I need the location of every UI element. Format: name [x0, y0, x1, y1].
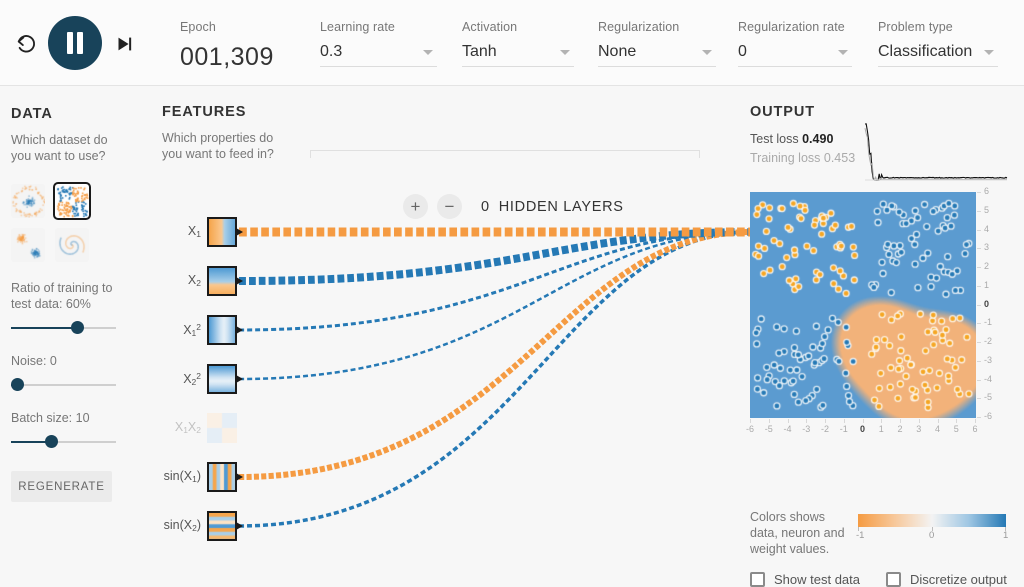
regularization-field: Regularization None	[598, 20, 716, 67]
x-tick-mark	[825, 419, 826, 423]
x-axis-tick-label: 5	[951, 424, 961, 434]
y-tick-mark	[977, 323, 981, 324]
chevron-down-icon	[984, 50, 994, 55]
activation-label: Activation	[462, 20, 574, 34]
y-tick-mark	[977, 230, 981, 231]
feature-label-sinx2: sin(X2)	[155, 518, 201, 533]
x-axis-tick-label: -4	[783, 424, 793, 434]
y-axis-tick-label: 3	[984, 242, 989, 252]
x-tick-mark	[938, 419, 939, 423]
dataset-thumb-xor[interactable]	[55, 184, 89, 218]
noise-slider-thumb[interactable]	[11, 378, 24, 391]
activation-select[interactable]: Tanh	[462, 43, 574, 67]
x-axis-tick-label: -2	[820, 424, 830, 434]
chevron-down-icon	[702, 50, 712, 55]
regularization-rate-value: 0	[738, 43, 747, 60]
noise-slider-rail	[11, 384, 116, 386]
checkbox-icon[interactable]	[886, 572, 901, 587]
features-panel: FEATURES Which properties do you want to…	[162, 104, 282, 162]
regularization-value: None	[598, 43, 636, 60]
dataset-selector	[11, 184, 91, 262]
dataset-thumb-gaussian[interactable]	[11, 228, 45, 262]
y-axis-tick-label: -2	[984, 336, 992, 346]
y-axis-tick-label: 6	[984, 186, 989, 196]
x-tick-mark	[975, 419, 976, 423]
x-tick-mark	[844, 419, 845, 423]
regularization-rate-select[interactable]: 0	[738, 43, 852, 67]
batch-slider-block: Batch size: 10	[11, 410, 131, 449]
weight-link-sinx1[interactable]	[239, 232, 750, 477]
x-tick-mark	[806, 419, 807, 423]
y-axis-tick-label: -1	[984, 317, 992, 327]
remove-layer-button[interactable]: −	[437, 194, 462, 219]
color-legend: Colors shows data, neuron and weight val…	[750, 509, 1014, 557]
play-pause-button[interactable]	[48, 16, 102, 70]
feature-node-sinx2[interactable]	[207, 511, 237, 541]
hidden-layers-count: 0	[481, 199, 490, 215]
noise-slider-label: Noise: 0	[11, 353, 131, 369]
main-content: DATA Which dataset do you want to use? R…	[0, 86, 1024, 575]
feature-label-sinx1: sin(X1)	[155, 469, 201, 484]
dataset-thumb-circle[interactable]	[11, 184, 45, 218]
y-axis-tick-label: -5	[984, 392, 992, 402]
weight-link-sinx2[interactable]	[239, 232, 750, 526]
x-axis-tick-label: 1	[876, 424, 886, 434]
x-axis-tick-label: -1	[839, 424, 849, 434]
test-loss-label: Test loss	[750, 132, 802, 146]
x-axis-tick-label: -6	[745, 424, 755, 434]
feature-node-x2[interactable]	[207, 266, 237, 296]
x-axis-tick-label: 4	[933, 424, 943, 434]
y-tick-mark	[977, 398, 981, 399]
y-axis-tick-label: 1	[984, 280, 989, 290]
output-heatmap[interactable]	[750, 192, 976, 418]
problem-type-label: Problem type	[878, 20, 998, 34]
regularization-select[interactable]: None	[598, 43, 716, 67]
legend-label-mid: 0	[929, 530, 934, 541]
link-arrow-x2sq	[236, 375, 243, 383]
x-tick-mark	[750, 419, 751, 423]
ratio-slider-thumb[interactable]	[71, 321, 84, 334]
feature-label-x1x2: X1X2	[155, 420, 201, 435]
color-legend-bar-wrap: -1 0 1	[858, 514, 1006, 527]
training-loss-curve	[865, 128, 1007, 180]
x-axis-tick-label: 3	[914, 424, 924, 434]
feature-label-x2sq: X22	[155, 371, 201, 387]
epoch-display: Epoch 001,309	[180, 20, 274, 72]
chevron-down-icon	[560, 50, 570, 55]
activation-field: Activation Tanh	[462, 20, 574, 67]
regularization-label: Regularization	[598, 20, 716, 34]
discretize-output-checkbox[interactable]: Discretize output	[886, 572, 1007, 587]
y-tick-mark	[977, 248, 981, 249]
output-panel: OUTPUT Test loss 0.490 Training loss 0.4…	[750, 104, 1014, 168]
x-tick-mark	[919, 419, 920, 423]
problem-type-select[interactable]: Classification	[878, 43, 998, 67]
learning-rate-field: Learning rate 0.3	[320, 20, 437, 67]
pause-icon-bar-left	[67, 32, 73, 54]
feature-node-x2sq[interactable]	[207, 364, 237, 394]
loss-curve-chart	[862, 121, 1010, 181]
y-axis-tick-label: 4	[984, 224, 989, 234]
legend-label-max: 1	[1003, 530, 1008, 541]
y-tick-mark	[977, 305, 981, 306]
x-axis-tick-label: 0	[858, 424, 868, 434]
ratio-slider-block: Ratio of training to test data: 60%	[11, 280, 131, 335]
data-panel-title: DATA	[11, 106, 131, 122]
color-legend-text: Colors shows data, neuron and weight val…	[750, 509, 848, 557]
dataset-thumb-spiral[interactable]	[55, 228, 89, 262]
x-tick-mark	[788, 419, 789, 423]
x-axis-tick-label: 2	[895, 424, 905, 434]
y-tick-mark	[977, 211, 981, 212]
x-tick-mark	[881, 419, 882, 423]
output-heatmap-wrap: -6-5-4-3-2-101234566543210-1-2-3-4-5-6	[750, 192, 976, 418]
legend-label-min: -1	[856, 530, 864, 541]
feature-label-x1sq: X12	[155, 322, 201, 338]
y-tick-mark	[977, 342, 981, 343]
regenerate-button[interactable]: REGENERATE	[11, 471, 112, 502]
x-tick-mark	[956, 419, 957, 423]
batch-slider[interactable]	[11, 435, 116, 449]
y-tick-mark	[977, 380, 981, 381]
show-test-data-label: Show test data	[774, 572, 860, 587]
step-forward-icon[interactable]	[113, 33, 135, 55]
x-axis-tick-label: -5	[764, 424, 774, 434]
ratio-slider-label: Ratio of training to test data: 60%	[11, 280, 131, 312]
data-panel-subtitle: Which dataset do you want to use?	[11, 132, 131, 164]
y-tick-mark	[977, 192, 981, 193]
color-legend-bar	[858, 514, 1006, 527]
batch-slider-thumb[interactable]	[45, 435, 58, 448]
app-header: Epoch 001,309 Learning rate 0.3 Activati…	[0, 0, 1024, 86]
x-tick-mark	[863, 419, 864, 423]
feature-node-x1[interactable]	[207, 217, 237, 247]
feature-label-x1: X1	[155, 224, 201, 239]
y-axis-tick-label: -3	[984, 355, 992, 365]
hidden-layers-controls: + − 0HIDDEN LAYERS	[403, 194, 624, 219]
x-axis-tick-label: -3	[801, 424, 811, 434]
y-axis-tick-label: 5	[984, 205, 989, 215]
feature-node-x1x2[interactable]	[207, 413, 237, 443]
epoch-value: 001,309	[180, 43, 274, 72]
feature-label-x2: X2	[155, 273, 201, 288]
data-panel: DATA Which dataset do you want to use? R…	[11, 106, 131, 502]
heatmap-canvas[interactable]	[750, 192, 976, 418]
hidden-layers-text: 0HIDDEN LAYERS	[481, 199, 624, 215]
weight-link-x2sq[interactable]	[239, 232, 750, 379]
noise-slider[interactable]	[11, 378, 116, 392]
test-loss-curve	[865, 124, 1007, 180]
y-tick-mark	[977, 267, 981, 268]
problem-type-field: Problem type Classification	[878, 20, 998, 67]
features-panel-title: FEATURES	[162, 104, 282, 120]
output-options: Show test data Discretize output	[750, 572, 1024, 587]
x-tick-mark	[900, 419, 901, 423]
ratio-slider-fill	[11, 327, 77, 329]
noise-slider-block: Noise: 0	[11, 353, 131, 392]
reset-icon[interactable]	[14, 31, 40, 57]
activation-value: Tanh	[462, 43, 497, 60]
link-arrow-sinx2	[236, 522, 243, 530]
add-layer-button[interactable]: +	[403, 194, 428, 219]
y-axis-tick-label: 0	[984, 299, 989, 309]
pause-icon-bar-right	[77, 32, 83, 54]
test-loss-value: 0.490	[802, 132, 833, 146]
y-axis-tick-label: -6	[984, 411, 992, 421]
show-test-data-checkbox[interactable]: Show test data	[750, 572, 860, 587]
learning-rate-value: 0.3	[320, 43, 342, 60]
weight-link-x2[interactable]	[239, 232, 750, 281]
batch-slider-label: Batch size: 10	[11, 410, 131, 426]
output-panel-title: OUTPUT	[750, 104, 1014, 120]
regularization-rate-field: Regularization rate 0	[738, 20, 852, 67]
feature-node-x1sq[interactable]	[207, 315, 237, 345]
y-axis-tick-label: 2	[984, 261, 989, 271]
link-arrow-x1sq	[236, 326, 243, 334]
hidden-layers-label: HIDDEN LAYERS	[499, 199, 624, 215]
y-tick-mark	[977, 361, 981, 362]
y-tick-mark	[977, 417, 981, 418]
learning-rate-select[interactable]: 0.3	[320, 43, 437, 67]
checkbox-icon[interactable]	[750, 572, 765, 587]
chevron-down-icon	[423, 50, 433, 55]
y-tick-mark	[977, 286, 981, 287]
epoch-label: Epoch	[180, 20, 274, 34]
problem-type-value: Classification	[878, 43, 972, 60]
feature-node-sinx1[interactable]	[207, 462, 237, 492]
x-tick-mark	[769, 419, 770, 423]
discretize-output-label: Discretize output	[910, 572, 1007, 587]
hidden-layers-bracket	[310, 150, 700, 158]
y-axis-tick-label: -4	[984, 374, 992, 384]
chevron-down-icon	[838, 50, 848, 55]
ratio-slider[interactable]	[11, 321, 116, 335]
playback-controls	[0, 0, 150, 86]
features-panel-subtitle: Which properties do you want to feed in?	[162, 130, 282, 162]
regularization-rate-label: Regularization rate	[738, 20, 852, 34]
x-axis-tick-label: 6	[970, 424, 980, 434]
learning-rate-label: Learning rate	[320, 20, 437, 34]
